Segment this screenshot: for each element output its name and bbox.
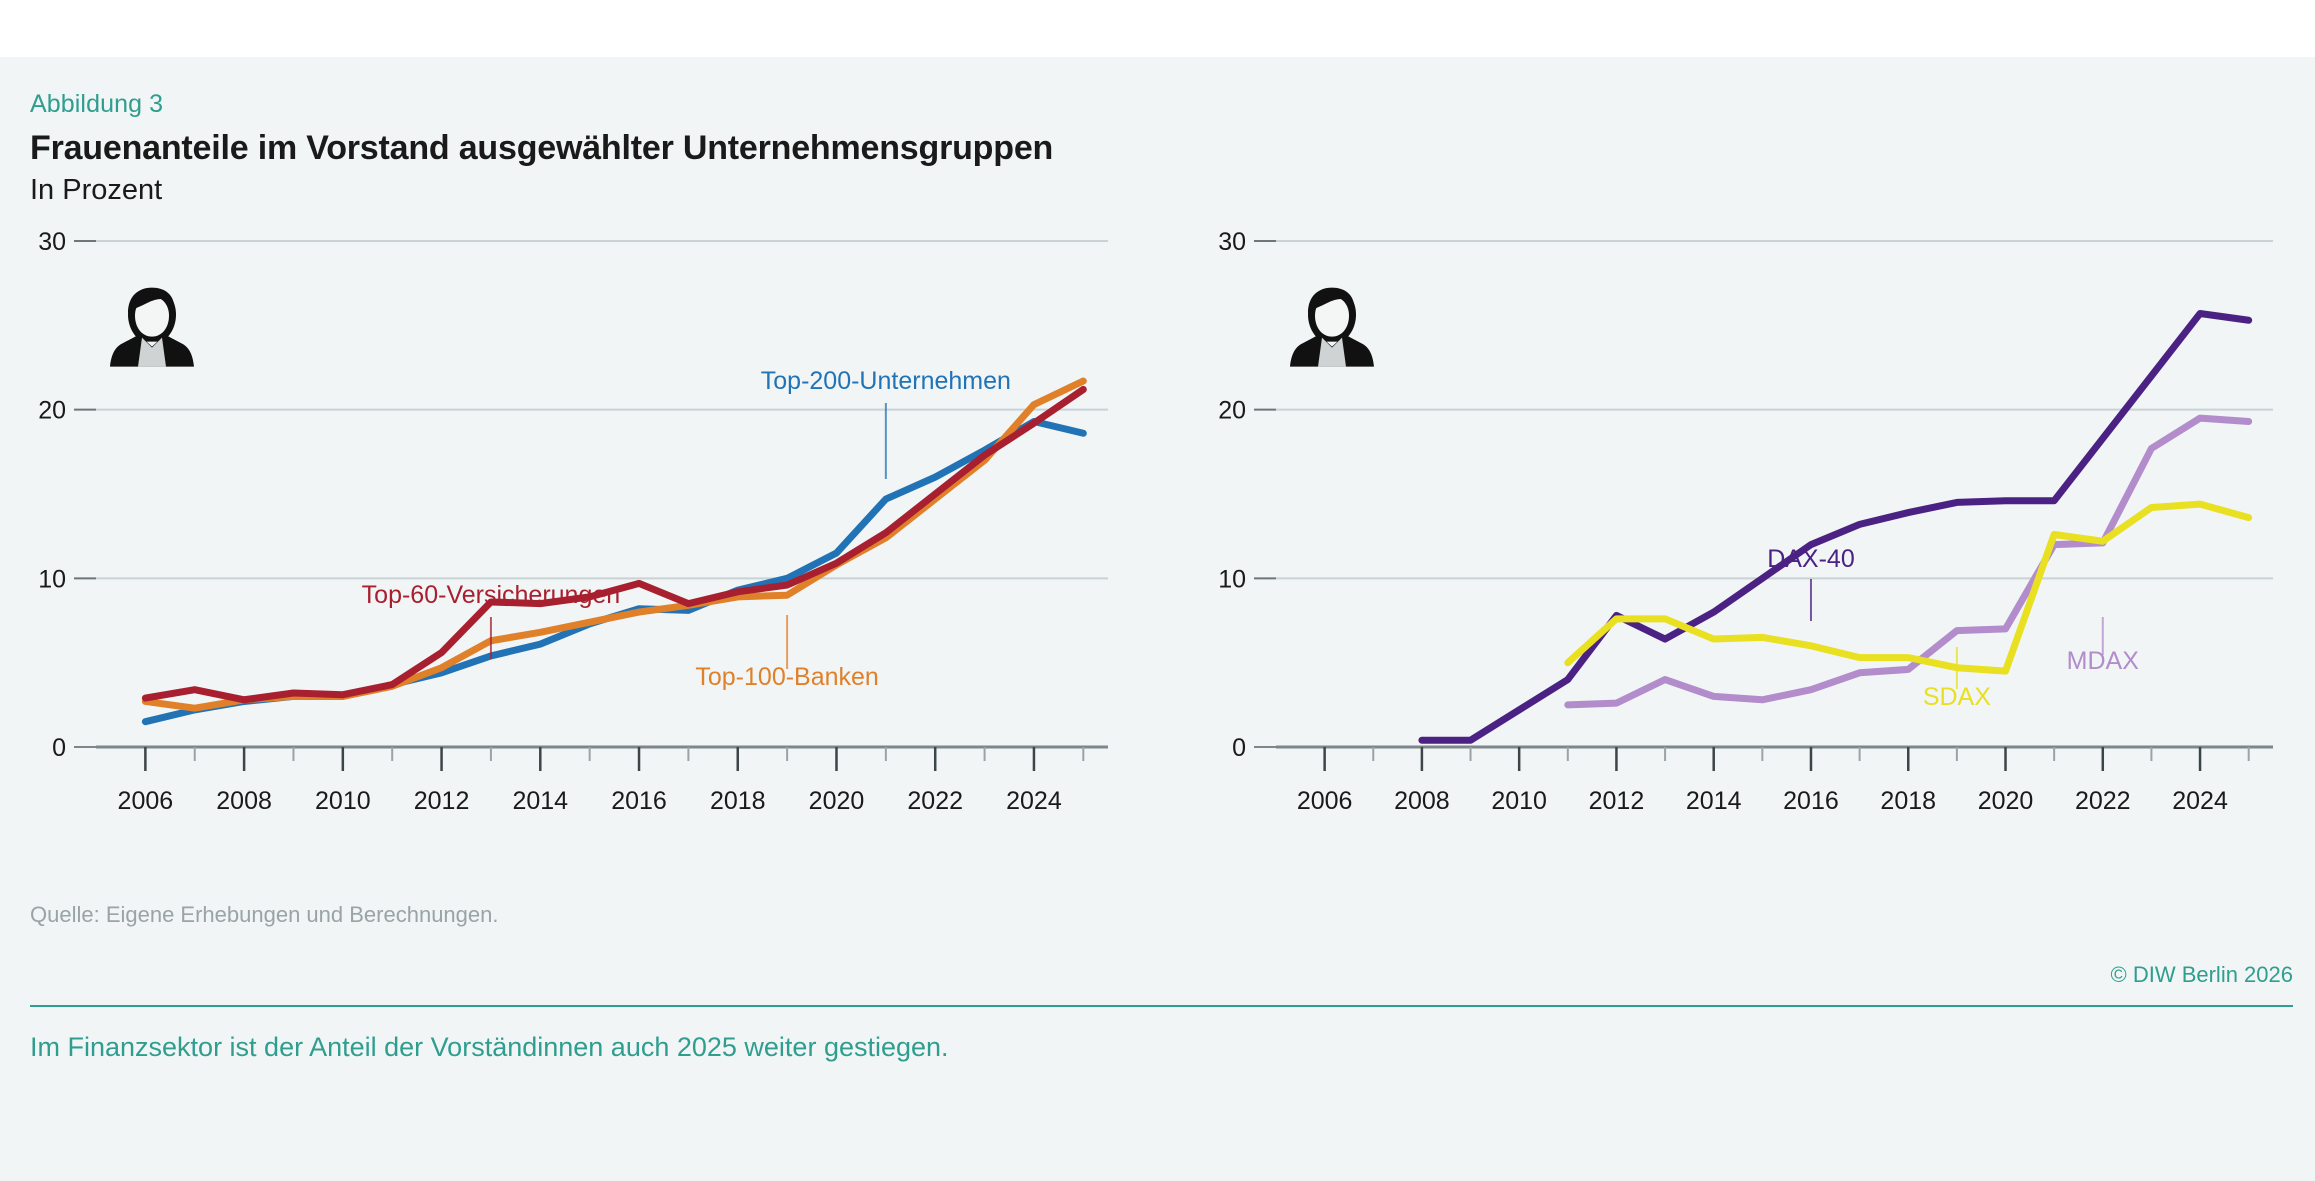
y-axis-tick-label: 20: [38, 397, 66, 425]
line-chart-right: 0102030200620082010201220142016201820202…: [1180, 217, 2315, 857]
y-axis-tick-label: 30: [38, 228, 66, 256]
series-line: [145, 389, 1083, 699]
x-axis-tick-label: 2020: [809, 787, 865, 815]
x-axis-tick-label: 2018: [1880, 787, 1936, 815]
x-axis-tick-label: 2010: [1491, 787, 1547, 815]
x-axis-tick-label: 2008: [1394, 787, 1450, 815]
businesswoman-avatar-icon: [1290, 288, 1374, 367]
series-label: Top-100-Banken: [695, 663, 878, 691]
y-axis-tick-label: 10: [38, 565, 66, 593]
series-line: [145, 381, 1083, 708]
series-line: [1568, 418, 2249, 705]
figure-panel: Abbildung 3 Frauenanteile im Vorstand au…: [0, 57, 2315, 1181]
x-axis-tick-label: 2010: [315, 787, 371, 815]
copyright-note: © DIW Berlin 2026: [2111, 962, 2294, 988]
figure-title: Frauenanteile im Vorstand ausgewählter U…: [30, 129, 1053, 168]
series-label: Top-200-Unternehmen: [761, 367, 1011, 395]
chart-panel-left: 0102030200620082010201220142016201820202…: [0, 217, 1150, 857]
x-axis-tick-label: 2014: [512, 787, 568, 815]
series-line: [145, 421, 1083, 721]
chart-panel-right: 0102030200620082010201220142016201820202…: [1180, 217, 2315, 857]
x-axis-tick-label: 2016: [611, 787, 667, 815]
footer-divider: [30, 1005, 2293, 1007]
x-axis-tick-label: 2012: [414, 787, 470, 815]
y-axis-tick-label: 20: [1218, 397, 1246, 425]
y-axis-tick-label: 0: [52, 734, 66, 762]
x-axis-tick-label: 2022: [2075, 787, 2131, 815]
x-axis-tick-label: 2024: [1006, 787, 1062, 815]
x-axis-tick-label: 2006: [1297, 787, 1353, 815]
x-axis-tick-label: 2008: [216, 787, 272, 815]
x-axis-tick-label: 2014: [1686, 787, 1742, 815]
y-axis-tick-label: 10: [1218, 565, 1246, 593]
x-axis-tick-label: 2006: [118, 787, 174, 815]
line-chart-left: 0102030200620082010201220142016201820202…: [0, 217, 1150, 857]
x-axis-tick-label: 2024: [2172, 787, 2228, 815]
series-label: DAX-40: [1767, 545, 1855, 573]
x-axis-tick-label: 2022: [907, 787, 963, 815]
series-label: MDAX: [2067, 647, 2140, 675]
y-axis-tick-label: 0: [1232, 734, 1246, 762]
x-axis-tick-label: 2012: [1589, 787, 1645, 815]
figure-number-label: Abbildung 3: [30, 90, 163, 119]
businesswoman-avatar-icon: [110, 288, 194, 367]
series-label: SDAX: [1923, 683, 1991, 711]
figure-caption: Im Finanzsektor ist der Anteil der Vorst…: [30, 1032, 949, 1063]
x-axis-tick-label: 2016: [1783, 787, 1839, 815]
series-label: Top-60-Versicherungen: [362, 581, 621, 609]
series-line: [1568, 504, 2249, 671]
source-note: Quelle: Eigene Erhebungen und Berechnung…: [30, 902, 498, 928]
x-axis-tick-label: 2018: [710, 787, 766, 815]
x-axis-tick-label: 2020: [1978, 787, 2034, 815]
figure-subtitle: In Prozent: [30, 174, 162, 207]
y-axis-tick-label: 30: [1218, 228, 1246, 256]
